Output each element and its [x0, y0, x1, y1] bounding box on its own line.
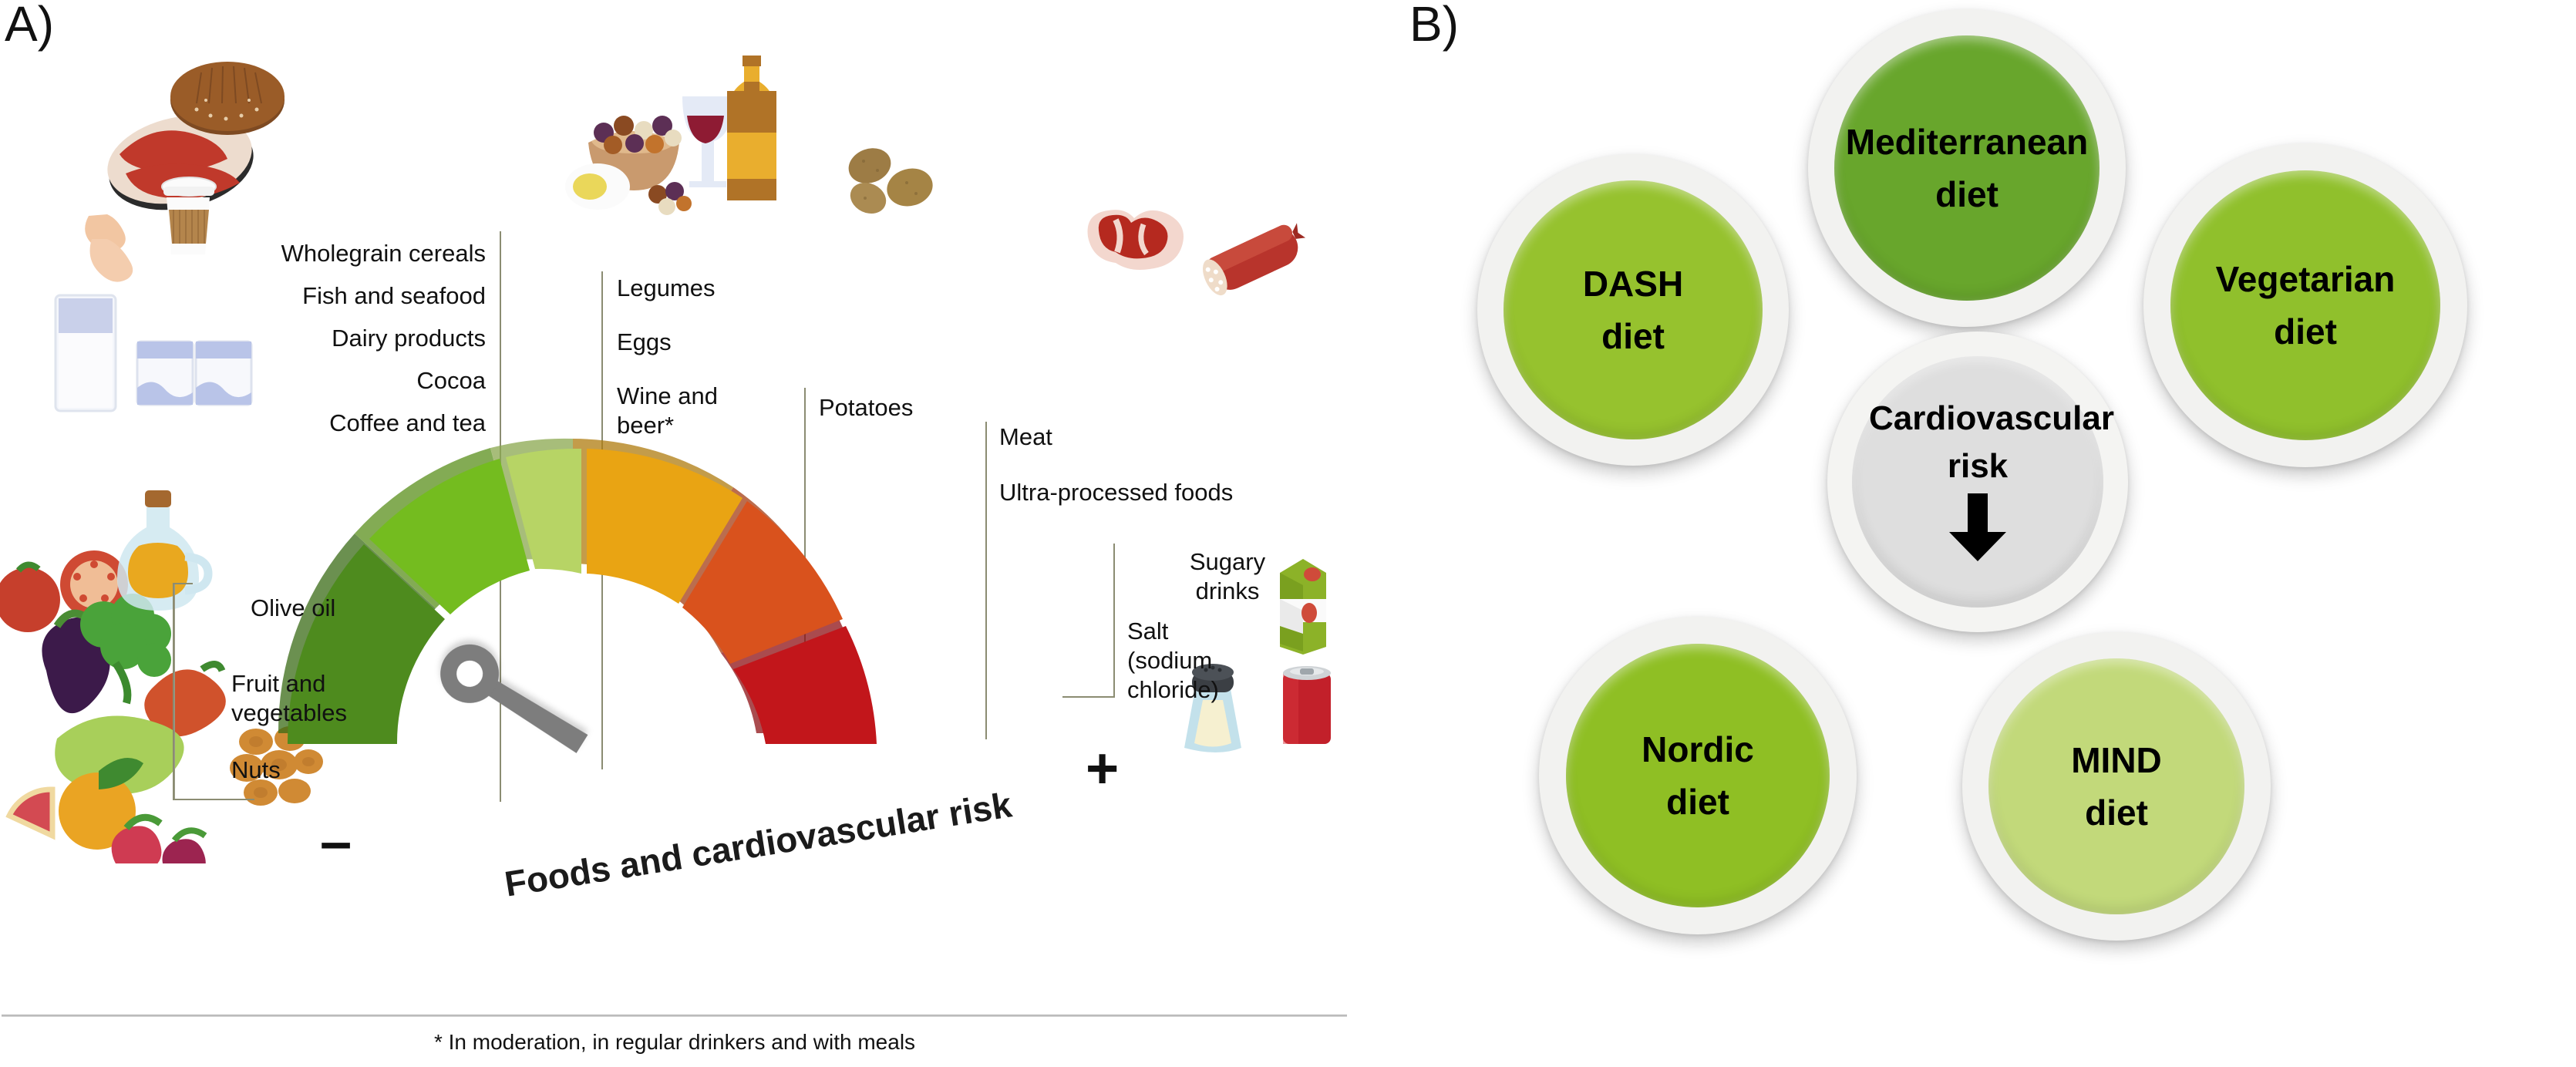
footnote-text: * In moderation, in regular drinkers and… — [0, 1030, 1349, 1055]
leader-line-lowest — [193, 799, 254, 800]
bubble-nordic-line1: Nordic — [1642, 729, 1754, 770]
bubble-cardiovascular-risk[interactable]: Cardiovascular risk — [1827, 332, 2128, 632]
label-fish-and-seafood: Fish and seafood — [100, 281, 486, 311]
legumes-eggs-wine-beer-icon — [559, 15, 790, 239]
label-sugary-drinks: Sugary drinks — [1127, 547, 1328, 606]
bracket-arm-top — [173, 583, 193, 584]
leader-line-far-right-group — [1113, 544, 1115, 698]
bubble-mediterranean-line2: diet — [1935, 173, 1999, 215]
panel-a-letter: A) — [5, 0, 54, 52]
bracket-bottom-left-group — [143, 583, 175, 800]
center-label-line2: risk — [1948, 447, 2008, 486]
bubble-mediterranean-line1: Mediterranean — [1846, 121, 2088, 163]
label-cocoa: Cocoa — [100, 366, 486, 395]
bubble-vegetarian-line1: Vegetarian — [2216, 258, 2396, 300]
wholegrain-bread-icon — [166, 54, 289, 139]
label-coffee-and-tea: Coffee and tea — [100, 409, 486, 438]
gauge-plus-sign: + — [1086, 740, 1119, 797]
label-salt-sodium-chloride: Salt (sodium chloride) — [1127, 617, 1328, 705]
label-dairy-products: Dairy products — [100, 324, 486, 353]
label-nuts: Nuts — [231, 756, 463, 785]
label-olive-oil: Olive oil — [251, 594, 482, 623]
label-ultra-processed-foods: Ultra-processed foods — [999, 478, 1339, 507]
leader-line-far-right-connector — [1062, 696, 1115, 698]
bubble-mind-line1: MIND — [2071, 739, 2162, 781]
ultra-processed-sausage-icon — [1191, 212, 1318, 308]
bubble-dash-line2: diet — [1601, 315, 1665, 357]
bubble-dash-line1: DASH — [1583, 263, 1683, 305]
label-eggs: Eggs — [617, 328, 848, 357]
bubble-nordic-diet[interactable]: Nordic diet — [1539, 617, 1857, 934]
bracket-arm-bottom — [173, 799, 193, 800]
panel-a: A) — [0, 0, 1349, 1067]
label-meat: Meat — [999, 422, 1308, 452]
panel-b: B) Mediterranean diet DASH diet Vegetari… — [1349, 0, 2576, 1067]
meat-icon — [1076, 197, 1187, 281]
gauge-minus-sign: – — [320, 813, 352, 870]
bubble-vegetarian-line2: diet — [2274, 311, 2337, 352]
label-wine-and-beer: Wine and beer* — [617, 382, 848, 440]
center-label-line1: Cardiovascular — [1869, 399, 2114, 438]
bracket-spine-bottom-left — [173, 583, 174, 800]
potatoes-icon — [840, 143, 952, 227]
label-potatoes: Potatoes — [819, 393, 1050, 422]
panel-b-letter: B) — [1409, 0, 1459, 52]
gauge-title: Foods and cardiovascular risk — [502, 783, 1015, 904]
bubble-vegetarian-diet[interactable]: Vegetarian diet — [2143, 143, 2467, 467]
bubble-mind-line2: diet — [2085, 792, 2148, 833]
label-legumes: Legumes — [617, 274, 848, 303]
label-wholegrain-cereals: Wholegrain cereals — [100, 239, 486, 268]
bubble-mind-diet[interactable]: MIND diet — [1962, 632, 2271, 941]
bubble-nordic-line2: diet — [1666, 781, 1729, 823]
footnote-divider — [2, 1015, 1347, 1017]
bubble-mediterranean-diet[interactable]: Mediterranean diet — [1808, 9, 2126, 327]
label-fruit-and-vegetables: Fruit and vegetables — [231, 669, 463, 728]
bubble-dash-diet[interactable]: DASH diet — [1477, 154, 1789, 466]
leader-line-right-group — [985, 422, 987, 739]
down-arrow-icon — [1945, 490, 2011, 564]
